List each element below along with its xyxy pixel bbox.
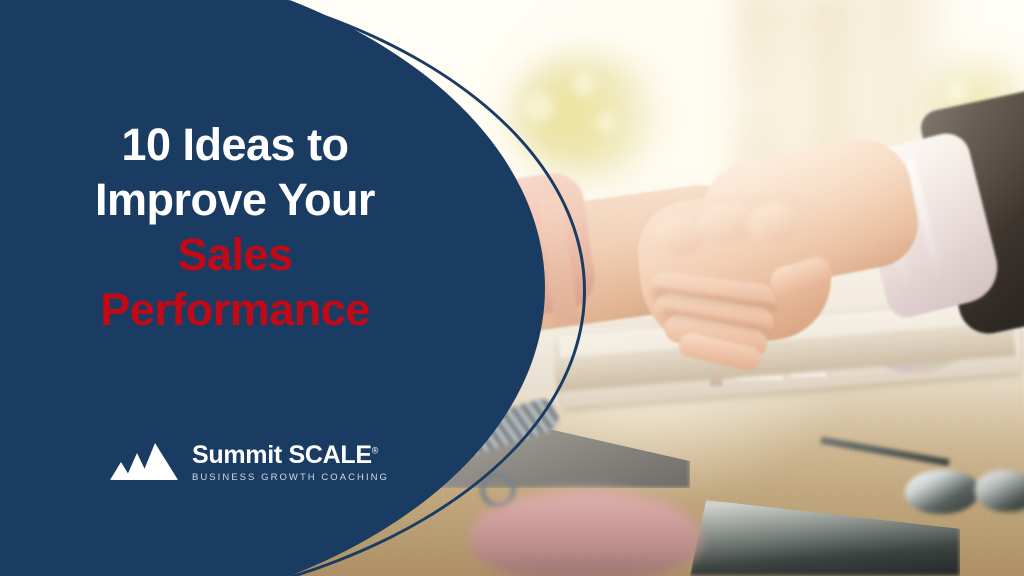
headline-line-3: Sales — [0, 232, 470, 277]
blurred-foreground-object — [470, 490, 700, 576]
bokeh-dot — [946, 80, 968, 102]
logo-name-part-two: SCALE — [289, 441, 372, 469]
presentation-slide: 10 Ideas to Improve Your Sales Performan… — [0, 0, 1024, 576]
headline-line-2: Improve Your — [0, 177, 470, 222]
summit-mountains-icon — [110, 440, 178, 485]
logo-tagline: BUSINESS GROWTH COACHING — [192, 473, 389, 483]
logo-name: Summit SCALE® — [192, 443, 389, 468]
knuckle — [745, 201, 801, 244]
registered-trademark-icon: ® — [372, 445, 378, 455]
bokeh-dot — [524, 92, 554, 122]
brand-logo: Summit SCALE® BUSINESS GROWTH COACHING — [110, 440, 389, 485]
bokeh-dot — [572, 72, 596, 96]
headline-line-4: Performance — [0, 287, 470, 332]
headline-line-1: 10 Ideas to — [0, 122, 470, 167]
page-title: 10 Ideas to Improve Your Sales Performan… — [0, 122, 470, 342]
logo-wordmark: Summit SCALE® BUSINESS GROWTH COACHING — [192, 443, 389, 483]
logo-name-part-one: Summit — [192, 441, 282, 469]
bokeh-dot — [596, 112, 616, 132]
eyeglasses-lens-left — [905, 470, 979, 514]
